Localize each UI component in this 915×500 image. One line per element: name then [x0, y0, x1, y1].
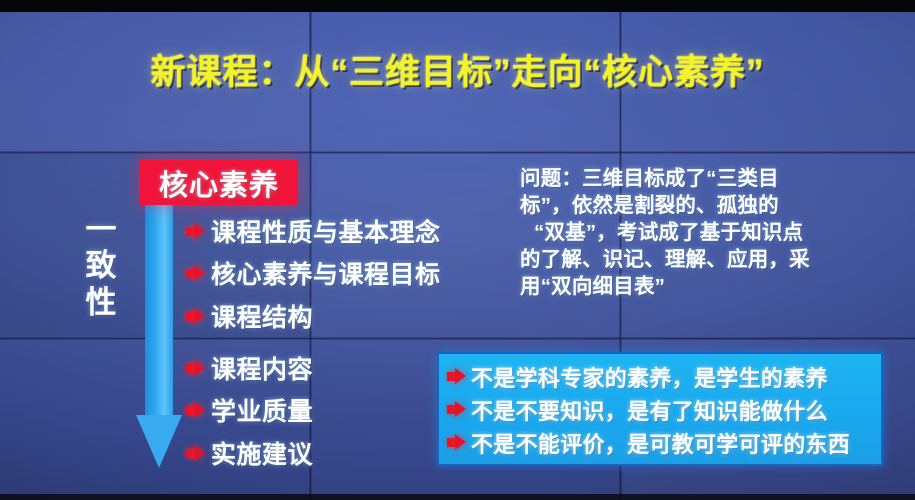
- down-arrow-head: [136, 415, 182, 468]
- list-item: 课程性质与基本理念: [186, 213, 441, 249]
- red-arrow-bullet-icon: [186, 360, 205, 377]
- red-arrow-bullet-icon: [447, 401, 466, 418]
- consistency-char-2: 致: [74, 248, 128, 284]
- consistency-char-3: 性: [74, 285, 128, 321]
- presentation-slide: 新课程：从“三维目标”走向“核心素养” 一 致 性 核心素养 课程性质与基本理念…: [0, 0, 915, 500]
- problem-paragraph-line: 用“双向细目表”: [520, 273, 880, 300]
- list-item-label: 实施建议: [211, 435, 313, 471]
- letterbox-bottom: [0, 494, 915, 500]
- red-arrow-bullet-icon: [186, 265, 205, 282]
- list-item-label: 课程内容: [211, 350, 313, 386]
- callout-list-item-label: 不是学科专家的素养，是学生的素养: [471, 361, 828, 393]
- callout-list-item: 不是不能评价，是可教可学可评的东西: [447, 426, 881, 459]
- problem-paragraph-line: “双基”，考试成了基于知识点: [520, 219, 880, 246]
- list-item-label: 课程性质与基本理念: [211, 213, 441, 249]
- core-literacy-highlight-box: 核心素养: [140, 160, 298, 205]
- slide-title: 新课程：从“三维目标”走向“核心素养”: [0, 44, 915, 95]
- red-arrow-bullet-icon: [186, 308, 205, 325]
- list-item: 实施建议: [186, 435, 313, 471]
- callout-list-item: 不是学科专家的素养，是学生的素养: [447, 360, 881, 393]
- letterbox-top: [0, 0, 915, 12]
- list-item-label: 核心素养与课程目标: [211, 255, 441, 291]
- list-item: 学业质量: [186, 392, 313, 428]
- red-arrow-bullet-icon: [186, 402, 205, 419]
- callout-list-item: 不是不要知识，是有了知识能做什么: [447, 393, 881, 426]
- list-item-label: 课程结构: [211, 298, 313, 334]
- core-literacy-label: 核心素养: [159, 162, 279, 204]
- problem-paragraph-line: 标”，依然是割裂的、孤独的: [520, 192, 880, 219]
- callout-list-item-label: 不是不要知识，是有了知识能做什么: [471, 394, 828, 426]
- list-item: 课程内容: [186, 350, 313, 386]
- list-item: 课程结构: [186, 298, 313, 334]
- problem-paragraph: 问题：三维目标成了“三类目 标”，依然是割裂的、孤独的 “双基”，考试成了基于知…: [520, 165, 880, 300]
- consistency-char-1: 一: [74, 212, 128, 248]
- consistency-vertical-label: 一 致 性: [74, 212, 128, 321]
- red-arrow-bullet-icon: [186, 223, 205, 240]
- down-arrow-shaft: [145, 205, 173, 418]
- red-arrow-bullet-icon: [186, 445, 205, 462]
- literacy-callout-box: 不是学科专家的素养，是学生的素养 不是不要知识，是有了知识能做什么 不是不能评价…: [437, 352, 883, 466]
- callout-list-item-label: 不是不能评价，是可教可学可评的东西: [471, 427, 850, 459]
- red-arrow-bullet-icon: [447, 368, 466, 385]
- red-arrow-bullet-icon: [447, 434, 466, 451]
- problem-paragraph-line: 问题：三维目标成了“三类目: [520, 165, 880, 192]
- problem-paragraph-line: 的了解、识记、理解、应用，采: [520, 246, 880, 273]
- list-item-label: 学业质量: [211, 392, 313, 428]
- list-item: 核心素养与课程目标: [186, 255, 441, 291]
